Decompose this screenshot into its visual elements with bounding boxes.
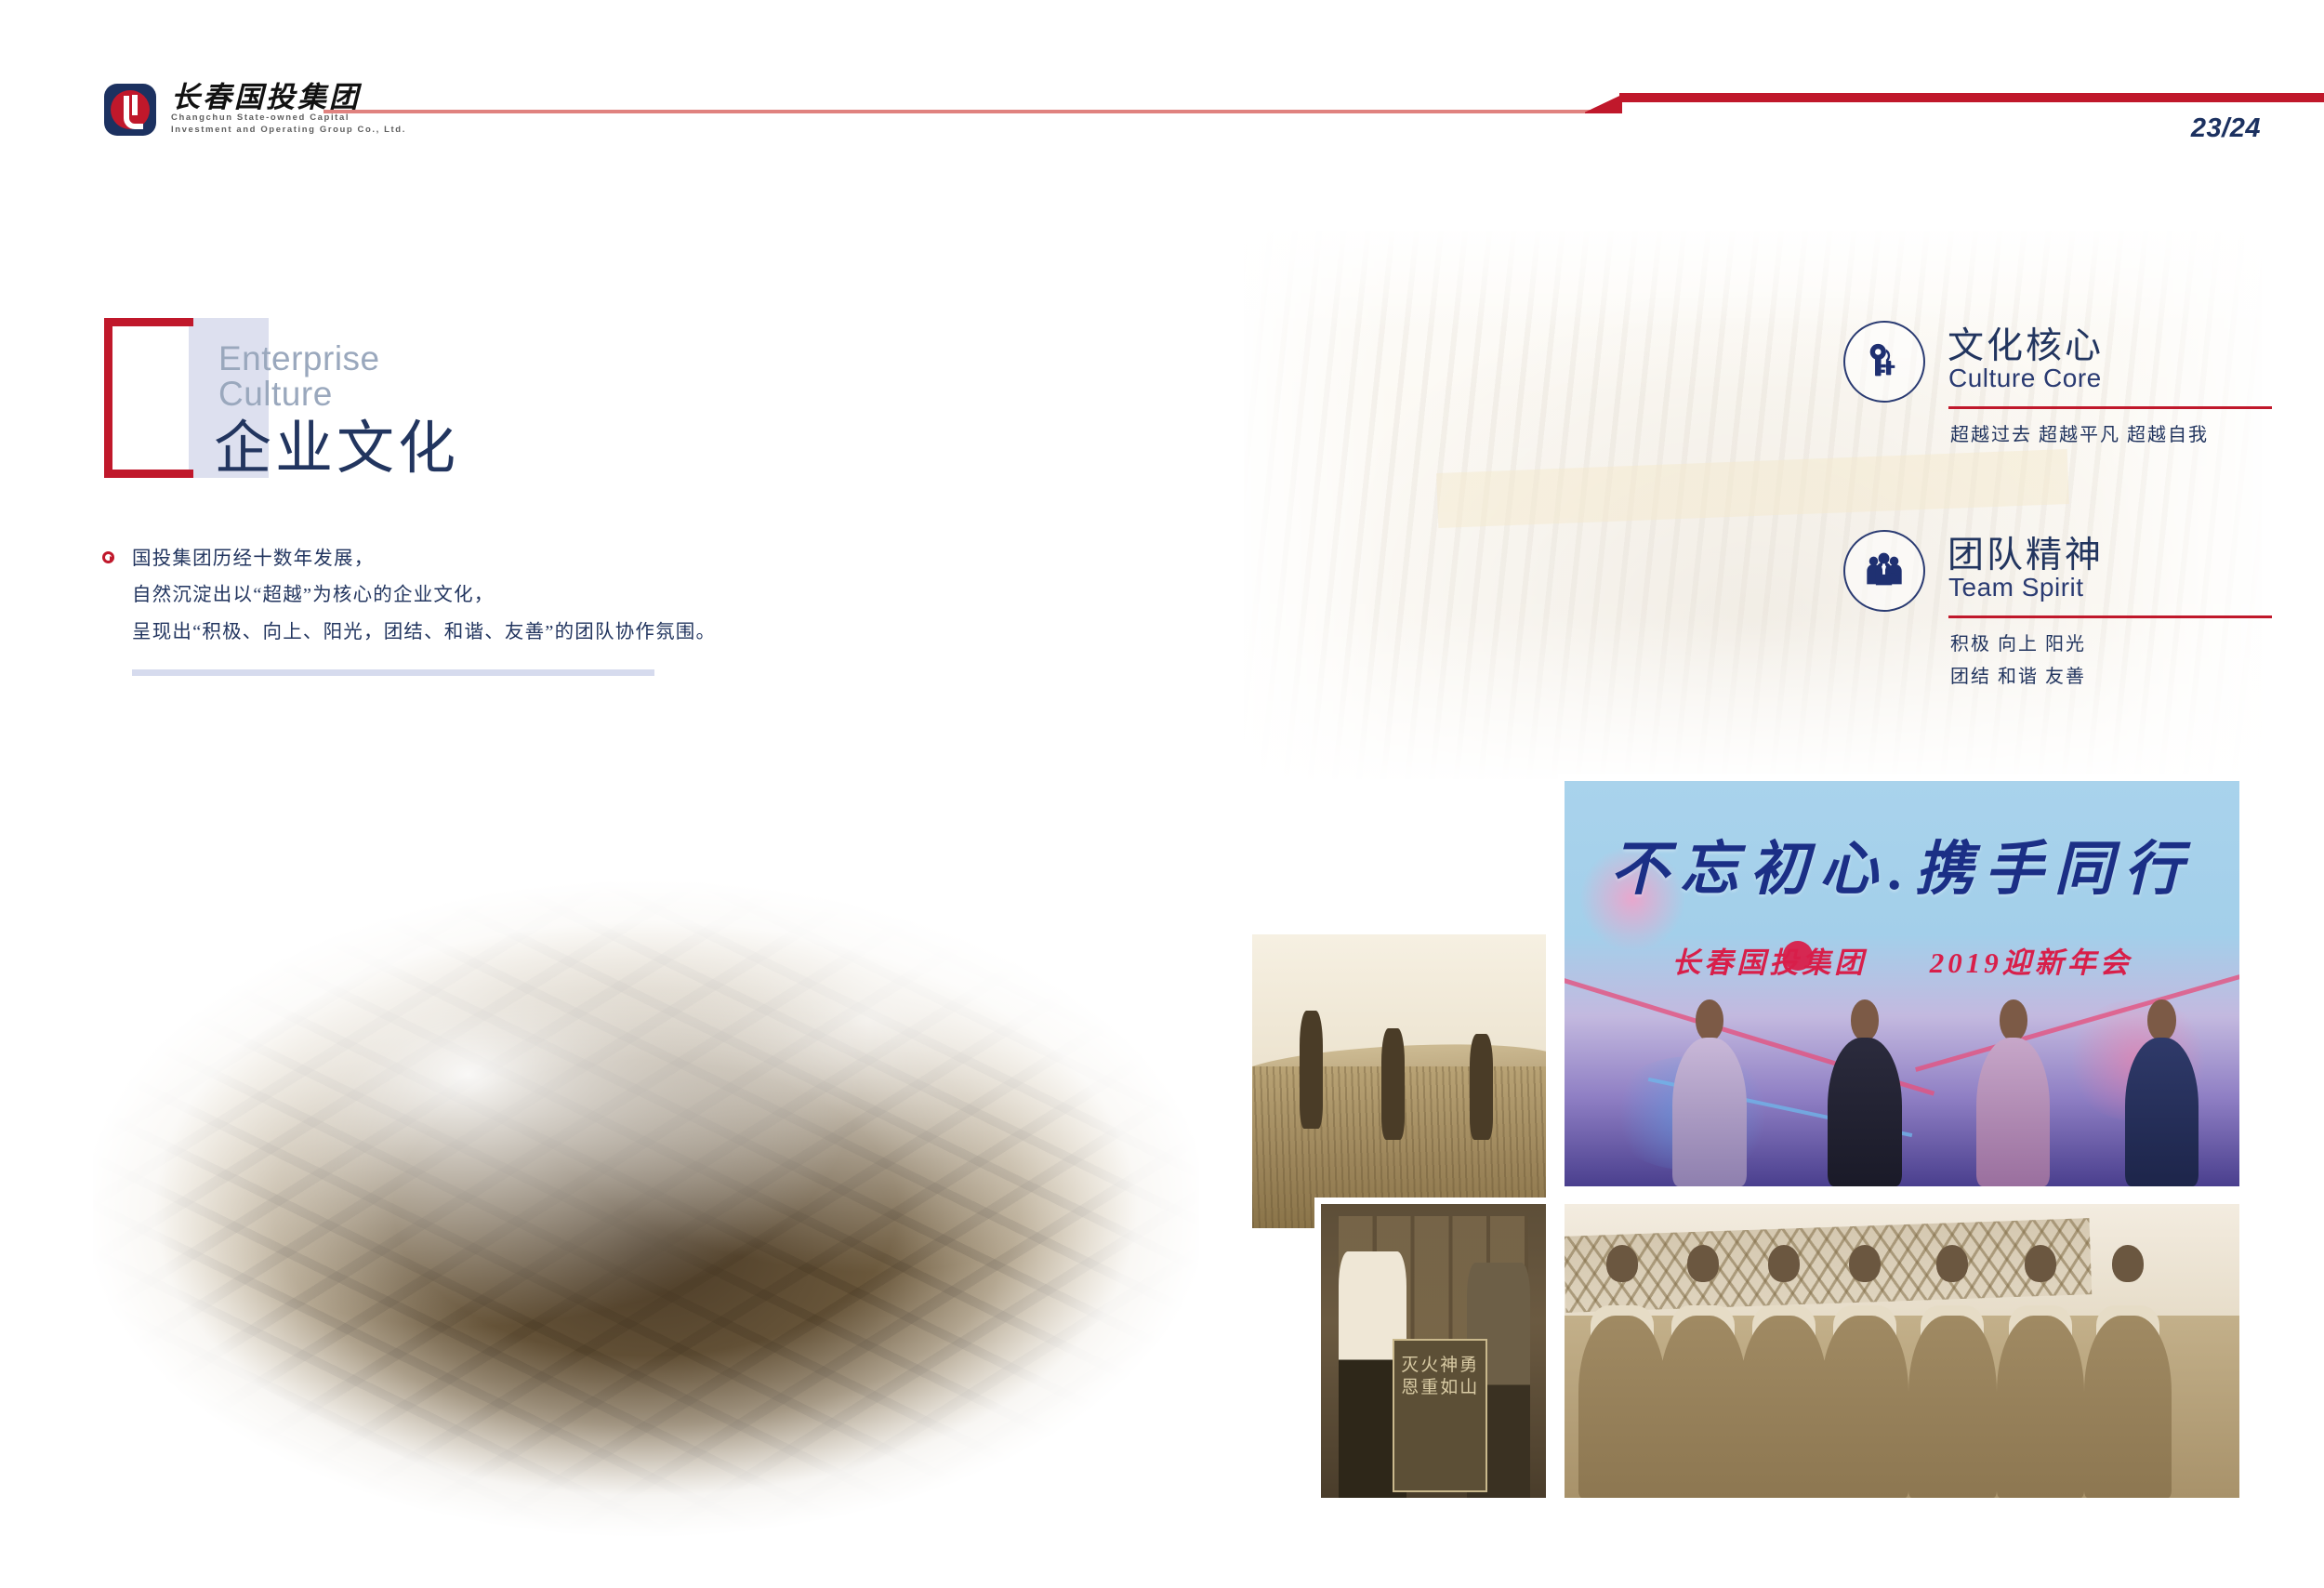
page-title-cn: 企业文化 (214, 401, 459, 484)
logo-company-name-cn: 长春国投集团 (171, 82, 406, 112)
logo-company-name-en-line2: Investment and Operating Group Co., Ltd. (171, 125, 406, 137)
intro-divider (132, 669, 654, 676)
page-title-block: Enterprise Culture 企业文化 (100, 311, 621, 497)
photo-jumping-team (1246, 928, 1552, 1235)
gala-seal-icon (1783, 941, 1813, 971)
team-people-icon (1843, 530, 1925, 612)
photo-hanbok-group (1558, 1198, 2246, 1504)
header-rule-thick (1619, 93, 2324, 102)
gala-banner-year: 2019迎新年会 (1930, 946, 2133, 979)
brochure-page: 长春国投集团 Changchun State-owned Capital Inv… (0, 0, 2324, 1588)
keys-icon (1843, 321, 1925, 403)
page-number: 23/24 (2191, 113, 2261, 144)
intro-line-2: 自然沉淀出以“超越”为核心的企业文化， (132, 577, 734, 614)
pennant-line-1: 灭火神勇 (1393, 1355, 1487, 1377)
photo-new-year-gala: 不忘初心.携手同行 长春国投集团 2019迎新年会 (1558, 774, 2246, 1193)
info-value-line-1: 积极 向上 阳光 (1950, 629, 2086, 661)
info-underline (1948, 615, 2272, 618)
header-rule-step (1585, 96, 1622, 113)
photo-pennant-presentation: 灭火神勇 恩重如山 (1314, 1198, 1552, 1504)
pennant-line-2: 恩重如山 (1393, 1377, 1487, 1399)
gala-banner-sub-text: 长春国投集团 2019迎新年会 (1598, 939, 2205, 981)
info-values: 超越过去 超越平凡 超越自我 (1950, 419, 2209, 452)
logo-company-name-en-line1: Changchun State-owned Capital (171, 112, 406, 125)
photo-hands-together (93, 874, 1199, 1543)
intro-paragraph: 国投集团历经十数年发展， 自然沉淀出以“超越”为核心的企业文化， 呈现出“积极、… (102, 541, 734, 651)
photo-tug-of-war (1244, 231, 2262, 779)
info-title-en: Culture Core (1948, 364, 2102, 393)
info-title-en: Team Spirit (1948, 573, 2084, 602)
logo-mark-icon (104, 84, 156, 136)
gala-banner-company: 长春国投集团 (1671, 946, 1867, 979)
info-value-line-1: 超越过去 超越平凡 超越自我 (1950, 419, 2209, 452)
arrow-bullet-icon (102, 551, 114, 563)
title-bracket-frame (104, 318, 193, 478)
header-rule-thin (324, 110, 1593, 113)
info-value-line-2: 团结 和谐 友善 (1950, 661, 2086, 694)
info-underline (1948, 406, 2272, 409)
info-title-cn: 文化核心 (1948, 317, 2104, 369)
info-values: 积极 向上 阳光 团结 和谐 友善 (1950, 629, 2086, 694)
info-title-cn: 团队精神 (1948, 526, 2104, 578)
intro-line-1: 国投集团历经十数年发展， (132, 541, 734, 577)
intro-line-3: 呈现出“积极、向上、阳光，团结、和谐、友善”的团队协作氛围。 (132, 615, 734, 651)
gala-banner-main-text: 不忘初心.携手同行 (1598, 822, 2205, 906)
page-title-en-line1: Enterprise (218, 341, 380, 377)
